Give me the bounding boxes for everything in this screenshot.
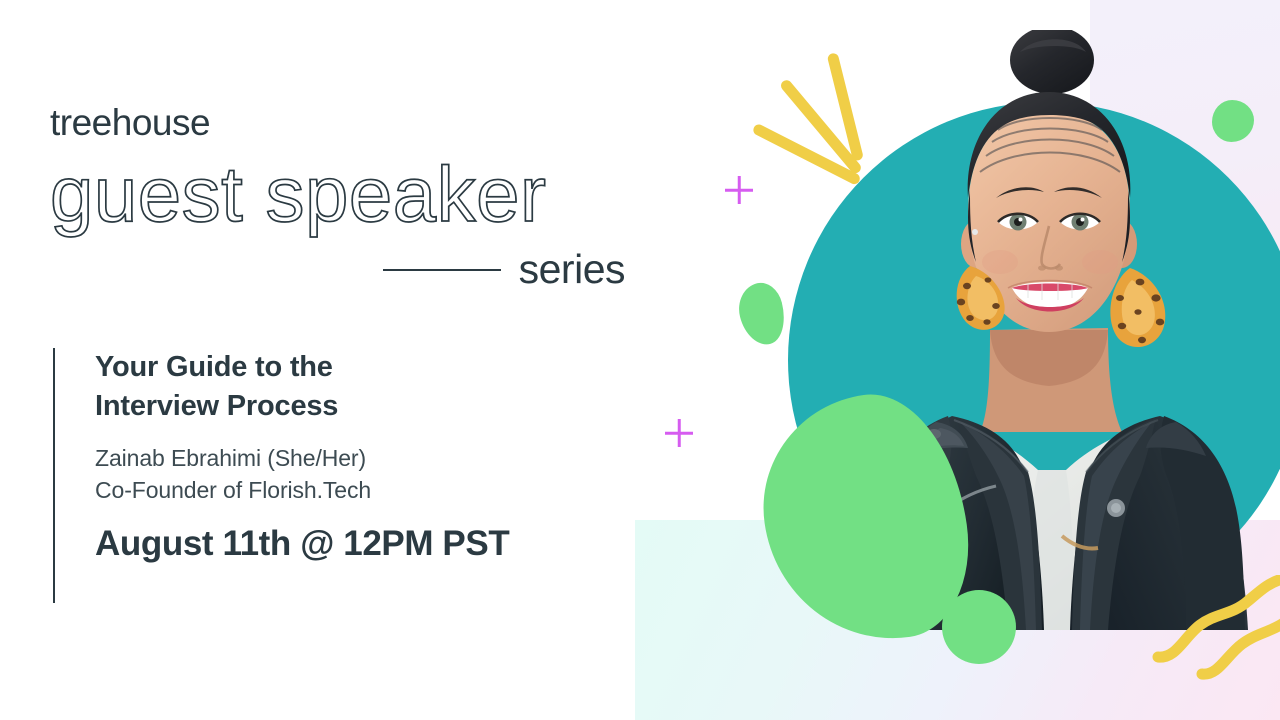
event-datetime: August 11th @ 12PM PST xyxy=(95,526,509,561)
plus-mark-upper xyxy=(725,176,753,204)
green-blob-round xyxy=(942,590,1016,664)
speaker-role: Co-Founder of Florish.Tech xyxy=(95,474,509,506)
talk-title: Your Guide to the Interview Process xyxy=(95,348,425,425)
series-label: series xyxy=(519,249,625,290)
talk-title-line-2: Interview Process xyxy=(95,390,338,422)
green-blob-small xyxy=(733,279,791,350)
presentation-slide: treehouse guest speaker series Your Guid… xyxy=(0,0,1280,720)
hero-title: guest speaker xyxy=(50,155,640,233)
series-divider-rule xyxy=(383,269,501,271)
brand-name: treehouse xyxy=(50,104,640,141)
headline-group: treehouse guest speaker series xyxy=(50,104,640,290)
speaker-name: Zainab Ebrahimi (She/Her) xyxy=(95,442,509,474)
yellow-squiggle-2 xyxy=(1196,598,1280,708)
series-row: series xyxy=(50,249,625,290)
event-details-block: Your Guide to the Interview Process Zain… xyxy=(53,348,509,603)
speaker-info: Zainab Ebrahimi (She/Her) Co-Founder of … xyxy=(95,442,509,506)
plus-mark-lower xyxy=(665,419,693,447)
talk-title-line-1: Your Guide to the xyxy=(95,351,333,383)
